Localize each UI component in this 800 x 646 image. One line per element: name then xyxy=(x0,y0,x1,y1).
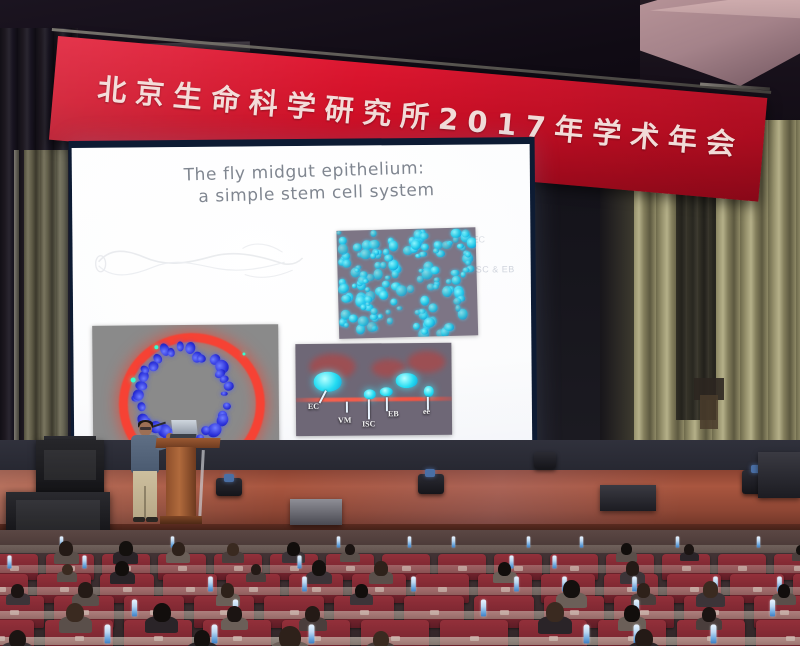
nucleus xyxy=(442,286,452,298)
nucleus xyxy=(428,303,437,312)
speaker-glasses xyxy=(140,427,151,430)
audience-person-head xyxy=(345,544,355,555)
nucleus xyxy=(388,241,398,252)
micrograph-nuclei-field xyxy=(336,227,478,339)
nucleus xyxy=(419,251,426,257)
nucleus xyxy=(442,241,452,249)
water-bottle xyxy=(104,625,110,644)
nucleus xyxy=(387,318,393,324)
slide-title: The fly midgut epithelium: a simple stem… xyxy=(183,155,514,209)
audience-person-head xyxy=(637,583,650,597)
nucleus xyxy=(419,233,429,240)
audience-person-head xyxy=(312,560,326,575)
pa-speaker-stack xyxy=(36,440,104,498)
nucleus xyxy=(336,231,341,235)
audience-person-head xyxy=(621,543,632,555)
water-bottle xyxy=(308,625,314,644)
audience-person-head xyxy=(498,562,511,576)
nucleus xyxy=(407,285,415,293)
label-ec: EC xyxy=(308,402,319,411)
nucleus xyxy=(339,283,349,293)
water-bottle xyxy=(212,625,218,644)
audience-person-head xyxy=(305,606,320,622)
water-bottle xyxy=(632,576,637,591)
moving-light-center xyxy=(418,474,444,494)
audience-person-head xyxy=(355,584,367,597)
nucleus xyxy=(385,310,391,314)
nucleus xyxy=(433,248,439,254)
micrograph-epithelium-side: EC VM ISC EB ee xyxy=(295,343,452,436)
nucleus xyxy=(342,295,352,303)
audience-person-head xyxy=(702,607,716,622)
audience-person-head xyxy=(251,564,262,575)
nucleus xyxy=(421,244,429,251)
nucleus xyxy=(413,322,420,330)
audience-person-head xyxy=(78,582,93,598)
water-bottle xyxy=(770,600,775,617)
projection-screen: The fly midgut epithelium: a simple stem… xyxy=(72,144,533,466)
nucleus xyxy=(433,284,439,290)
water-bottle xyxy=(676,536,680,547)
podium-body xyxy=(166,447,196,520)
speaker-torso xyxy=(131,435,159,473)
label-isc: ISC xyxy=(362,419,375,428)
water-bottle xyxy=(452,536,456,547)
water-bottle xyxy=(337,536,341,547)
audience-person-head xyxy=(59,541,73,556)
ec-nucleus xyxy=(396,373,418,388)
audience-person-head xyxy=(626,561,640,576)
audience-person-head xyxy=(374,561,387,575)
water-bottle xyxy=(82,555,86,568)
fly-gut-diagram xyxy=(92,234,307,288)
red-signal-blob xyxy=(407,351,445,373)
water-bottle xyxy=(514,576,519,591)
nucleus xyxy=(380,261,387,268)
desk-ledge xyxy=(0,611,800,619)
nucleus xyxy=(343,322,349,328)
nucleus xyxy=(419,268,424,272)
moving-light-screen-base xyxy=(534,452,556,469)
eb-nucleus xyxy=(380,387,393,396)
nucleus xyxy=(360,249,371,259)
curtain-left-rod xyxy=(14,150,19,450)
nucleus xyxy=(354,268,359,272)
pa-speaker-grill xyxy=(44,450,96,480)
audience-person-head xyxy=(115,561,129,576)
water-bottle xyxy=(302,576,307,591)
water-bottle xyxy=(411,576,416,591)
audience-person-head xyxy=(563,580,580,598)
audience-person-head xyxy=(227,543,239,556)
nucleus xyxy=(370,308,378,315)
nucleus xyxy=(416,275,423,283)
audience-person-head xyxy=(9,630,26,646)
curtain-left-lit-fold xyxy=(24,150,68,450)
backstage-chair xyxy=(700,395,718,429)
speaker-leg-split xyxy=(144,486,146,519)
green-marker-cell xyxy=(242,353,245,356)
slide-annotation-text: EC ISC & EB xyxy=(472,232,532,277)
slide-annotation-2: ISC & EB xyxy=(473,262,533,277)
label-eb: EB xyxy=(388,409,399,418)
speaker-shoe-right xyxy=(146,517,158,522)
green-marker-cell xyxy=(131,377,136,382)
audience-person-head xyxy=(796,545,800,555)
stage-floor-reflection xyxy=(0,470,800,528)
nucleus xyxy=(385,275,391,280)
ec-nucleus xyxy=(314,372,342,392)
nucleus xyxy=(453,298,461,305)
water-bottle xyxy=(481,600,486,617)
nucleus xyxy=(342,259,351,268)
audience-person-head xyxy=(624,605,639,622)
nucleus xyxy=(390,299,397,306)
nucleus xyxy=(460,271,466,278)
audience-person-head xyxy=(373,631,389,646)
nucleus xyxy=(349,314,358,323)
nucleus xyxy=(370,253,377,260)
nucleus xyxy=(395,285,406,297)
isc-arrow xyxy=(368,399,370,419)
nucleus xyxy=(338,244,348,255)
nucleus xyxy=(431,266,440,274)
nucleus xyxy=(397,306,402,310)
audience-person-head xyxy=(279,626,301,646)
audience-person-head xyxy=(66,603,84,623)
nucleus xyxy=(433,278,439,283)
nucleus xyxy=(365,302,370,307)
water-bottle xyxy=(298,555,302,568)
audience-person-head xyxy=(287,542,300,556)
audience-person-head xyxy=(153,603,171,622)
isc-nucleus xyxy=(364,389,376,399)
audience-person-head xyxy=(194,630,211,646)
nucleus xyxy=(369,240,379,249)
nucleus xyxy=(420,295,429,305)
lecture-hall-photo: 北京生命科学研究所2017年学术年会 The fly midgut epithe… xyxy=(0,0,800,646)
water-bottle xyxy=(7,555,11,568)
nucleus xyxy=(379,291,387,300)
desk-ledge xyxy=(0,587,800,595)
nucleus xyxy=(363,279,369,284)
audience-person-head xyxy=(221,583,234,597)
nucleus xyxy=(377,315,382,319)
moving-light-head xyxy=(224,474,234,482)
water-bottle xyxy=(584,625,590,644)
moving-light-head xyxy=(425,469,435,477)
water-bottle xyxy=(408,536,412,547)
audience-person-head xyxy=(546,602,565,622)
water-bottle xyxy=(757,536,761,547)
audience-person-head xyxy=(119,541,133,556)
water-bottle xyxy=(132,600,137,617)
nucleus xyxy=(221,391,228,396)
water-bottle xyxy=(553,555,557,568)
audience-person-head xyxy=(172,542,185,556)
stage-monitor-center xyxy=(290,499,342,525)
nucleus xyxy=(465,260,471,265)
green-marker-cell xyxy=(154,345,158,349)
label-vm: VM xyxy=(338,416,351,425)
laptop-screen xyxy=(171,420,198,435)
audience-person-head xyxy=(703,581,719,598)
audience-person-head xyxy=(11,584,24,598)
nucleus xyxy=(370,230,377,236)
label-ee: ee xyxy=(423,407,430,416)
audience-person-head xyxy=(635,629,653,646)
audience-person-head xyxy=(62,564,73,576)
audience-seating xyxy=(0,530,800,646)
nucleus xyxy=(455,305,461,311)
moving-light-left xyxy=(216,478,242,496)
pa-subwoofer-grill xyxy=(16,500,100,530)
ee-nucleus xyxy=(424,386,434,397)
nucleus xyxy=(465,251,470,257)
speaker-shoe-left xyxy=(133,517,145,522)
desk-ledge xyxy=(0,637,800,645)
water-bottle xyxy=(580,536,584,547)
pa-speaker-right xyxy=(758,452,800,498)
nucleus xyxy=(451,276,461,285)
nucleus xyxy=(367,322,377,333)
vm-arrow xyxy=(346,402,348,413)
nucleus xyxy=(391,270,399,278)
water-bottle xyxy=(208,576,213,591)
stage-monitor-right xyxy=(600,485,656,511)
podium-base xyxy=(160,516,202,524)
audience-person-head xyxy=(227,606,242,622)
water-bottle xyxy=(527,536,531,547)
water-bottle xyxy=(710,625,716,644)
audience-person-head xyxy=(778,584,791,598)
nucleus xyxy=(410,240,420,250)
